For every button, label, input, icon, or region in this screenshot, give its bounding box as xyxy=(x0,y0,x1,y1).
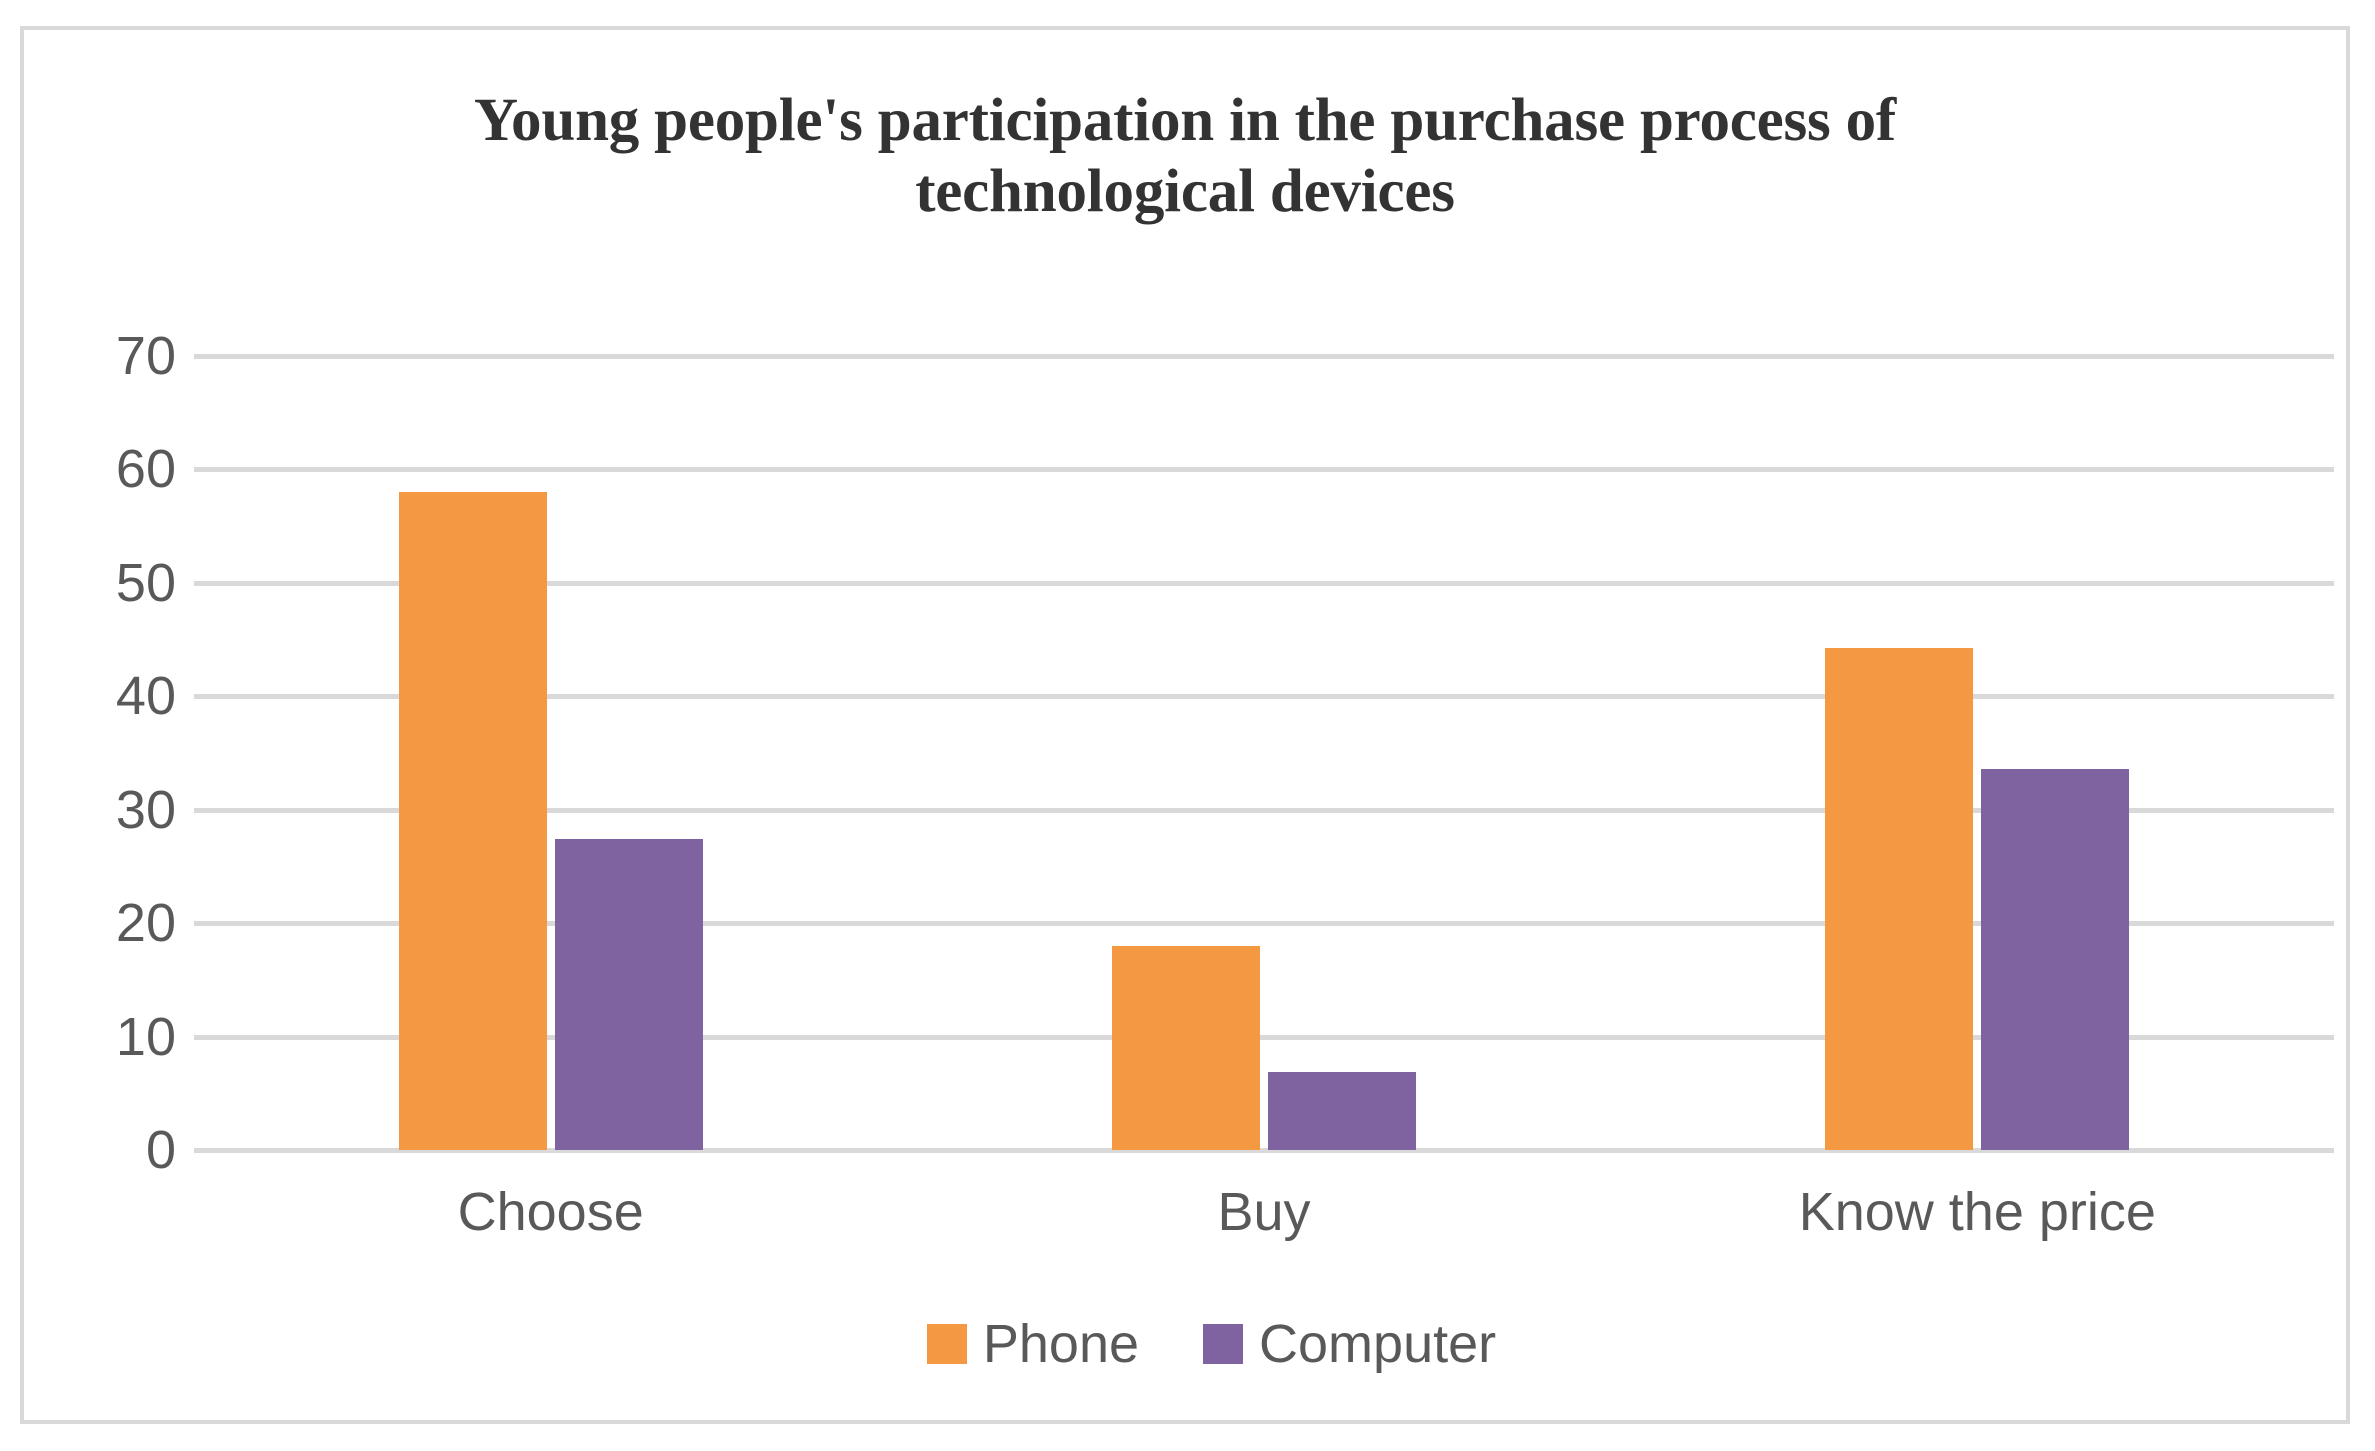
y-tick-label: 30 xyxy=(56,783,176,837)
bar-group xyxy=(1825,356,2129,1150)
x-axis-category-labels: ChooseBuyKnow the price xyxy=(194,1180,2334,1270)
legend-label: Phone xyxy=(983,1317,1139,1371)
chart-legend: PhoneComputer xyxy=(24,1317,2375,1371)
x-tick-label: Choose xyxy=(194,1180,907,1245)
bars-layer xyxy=(194,356,2334,1150)
y-tick-label: 10 xyxy=(56,1010,176,1064)
legend-item-computer[interactable]: Computer xyxy=(1203,1317,1496,1371)
legend-item-phone[interactable]: Phone xyxy=(927,1317,1139,1371)
bar-phone-buy[interactable] xyxy=(1112,946,1260,1150)
y-tick-label: 20 xyxy=(56,896,176,950)
y-tick-label: 40 xyxy=(56,669,176,723)
y-tick-label: 50 xyxy=(56,556,176,610)
bar-group xyxy=(399,356,703,1150)
bar-group xyxy=(1112,356,1416,1150)
bar-computer-know-the-price[interactable] xyxy=(1981,769,2129,1150)
legend-swatch-computer-icon xyxy=(1203,1324,1243,1364)
x-tick-label: Know the price xyxy=(1621,1180,2334,1245)
x-tick-label: Buy xyxy=(907,1180,1620,1245)
bar-phone-choose[interactable] xyxy=(399,492,547,1150)
y-tick-label: 70 xyxy=(56,329,176,383)
legend-label: Computer xyxy=(1259,1317,1496,1371)
bar-computer-choose[interactable] xyxy=(555,839,703,1150)
y-tick-label: 0 xyxy=(56,1123,176,1177)
plot-wrapper: 010203040506070 ChooseBuyKnow the price xyxy=(24,30,2375,1451)
bar-phone-know-the-price[interactable] xyxy=(1825,648,1973,1150)
legend-swatch-phone-icon xyxy=(927,1324,967,1364)
bar-computer-buy[interactable] xyxy=(1268,1072,1416,1150)
chart-screenshot: Young people's participation in the purc… xyxy=(0,0,2375,1451)
y-tick-label: 60 xyxy=(56,442,176,496)
chart-container: Young people's participation in the purc… xyxy=(20,26,2350,1424)
